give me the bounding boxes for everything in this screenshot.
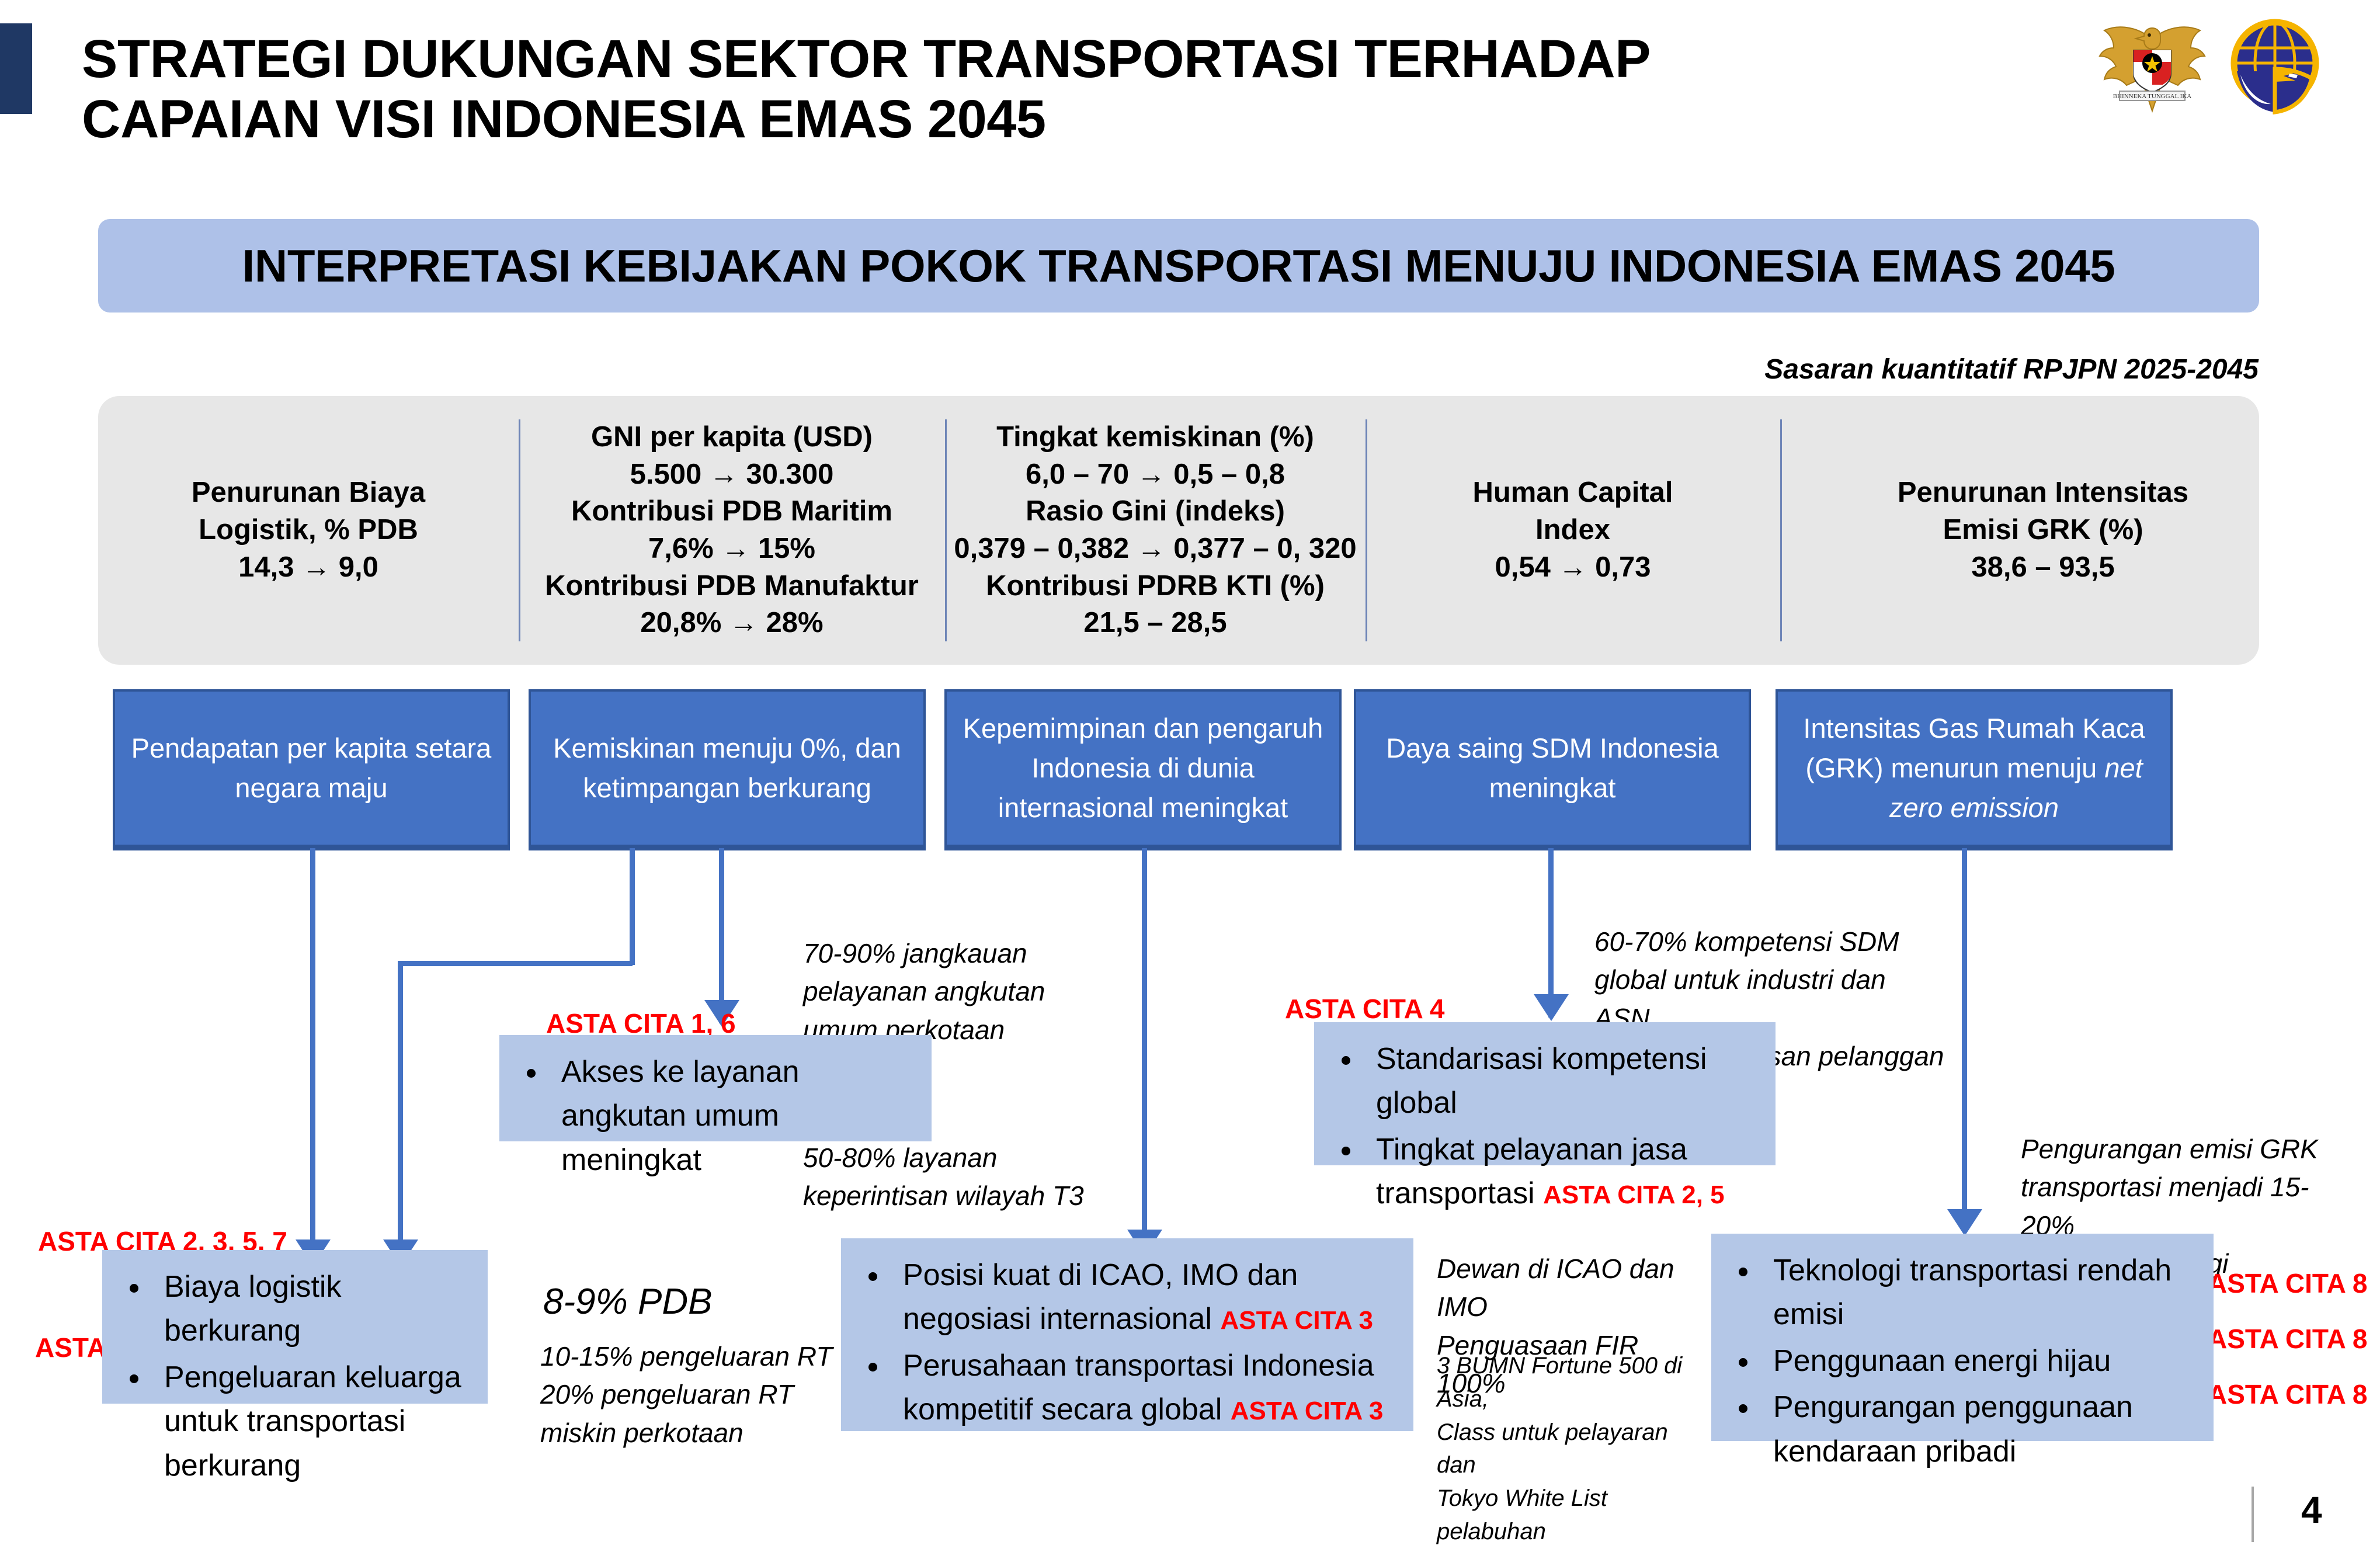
note-bumn-fortune: 3 BUMN Fortune 500 di Asia, Class untuk …: [1437, 1349, 1705, 1548]
stat-line: 38,6 – 93,5: [1971, 549, 2114, 586]
tag-asta-cita-8-2: ASTA CITA 8: [2208, 1323, 2367, 1355]
stat-line: Human Capital: [1472, 474, 1673, 512]
stat-line: Penurunan Biaya: [192, 474, 425, 512]
goal-box-label: Pendapatan per kapita setara negara maju: [128, 728, 495, 808]
stat-line: Penurunan Intensitas: [1898, 474, 2188, 512]
note-line: Class untuk pelayaran dan: [1437, 1416, 1705, 1482]
list-item: Teknologi transportasi rendah emisi: [1760, 1249, 2196, 1337]
stat-line: Tingkat kemiskinan (%): [996, 419, 1314, 456]
tag-asta-cita-1-6: ASTA CITA 1, 6: [546, 1008, 736, 1039]
page-title: STRATEGI DUKUNGAN SEKTOR TRANSPORTASI TE…: [82, 29, 1659, 150]
tag-asta-cita-8-1: ASTA CITA 8: [2208, 1268, 2367, 1299]
stat-line: Kontribusi PDB Maritim: [571, 493, 892, 530]
tag-asta-cita-3-b: ASTA CITA 3: [1231, 1397, 1384, 1425]
svg-text:BHINNEKA TUNGGAL IKA: BHINNEKA TUNGGAL IKA: [2113, 93, 2191, 100]
stat-line: Logistik, % PDB: [199, 512, 418, 549]
goal-box-label: Intensitas Gas Rumah Kaca (GRK) menurun …: [1791, 709, 2157, 828]
connector-line: [719, 848, 724, 1023]
page-number: 4: [2301, 1488, 2322, 1532]
outcome-list: Teknologi transportasi rendah emisi Peng…: [1724, 1249, 2196, 1474]
page-title-line-1: STRATEGI DUKUNGAN SEKTOR TRANSPORTASI TE…: [82, 29, 1659, 89]
stat-line: Kontribusi PDB Manufaktur: [545, 568, 919, 605]
note-line: pelayanan angkutan: [803, 973, 1078, 1011]
goal-box-intensitas-grk[interactable]: Intensitas Gas Rumah Kaca (GRK) menurun …: [1776, 689, 2173, 847]
stat-line: 21,5 – 28,5: [1083, 605, 1227, 642]
outcome-box-kompetensi-sdm[interactable]: Standarisasi kompetensi global Tingkat p…: [1314, 1022, 1776, 1165]
goal-box-label-plain: Intensitas Gas Rumah Kaca (GRK) menurun …: [1803, 713, 2145, 783]
footer-divider: [2252, 1487, 2254, 1542]
slide-root: STRATEGI DUKUNGAN SEKTOR TRANSPORTASI TE…: [0, 0, 2380, 1552]
list-item: Perusahaan transportasi Indonesia kompet…: [890, 1344, 1396, 1432]
note-line: Tokyo White List pelabuhan: [1437, 1482, 1705, 1548]
outcome-list: Standarisasi kompetensi global Tingkat p…: [1327, 1037, 1758, 1216]
stat-biaya-logistik: Penurunan Biaya Logistik, % PDB 14,3 → 9…: [98, 396, 519, 665]
stat-line: 0,379 – 0,382 → 0,377 – 0, 320: [954, 530, 1356, 568]
tag-asta-cita-2-5: ASTA CITA 2, 5: [1543, 1181, 1724, 1209]
goal-box-kemiskinan-nol[interactable]: Kemiskinan menuju 0%, dan ketimpangan be…: [529, 689, 926, 847]
stat-line: Kontribusi PDRB KTI (%): [986, 568, 1325, 605]
garuda-pancasila-icon: BHINNEKA TUNGGAL IKA: [2094, 18, 2211, 114]
stat-human-capital-index: Human Capital Index 0,54 → 0,73: [1366, 396, 1780, 665]
note-line: 20% pengeluaran RT: [540, 1376, 844, 1414]
goal-box-label: Daya saing SDM Indonesia meningkat: [1369, 728, 1736, 808]
note-line: keperintisan wilayah T3: [803, 1177, 1107, 1215]
stat-line: 7,6% → 15%: [648, 530, 815, 568]
kemenhub-globe-icon: [2219, 18, 2330, 117]
outcome-box-posisi-internasional[interactable]: Posisi kuat di ICAO, IMO dan negosiasi i…: [841, 1238, 1413, 1431]
note-pengeluaran-rt: 10-15% pengeluaran RT 20% pengeluaran RT…: [540, 1338, 844, 1452]
connector-line: [1142, 848, 1147, 1245]
note-line: 3 BUMN Fortune 500 di Asia,: [1437, 1349, 1705, 1416]
note-line: 60-70% kompetensi SDM: [1594, 923, 1945, 961]
section-banner-text: INTERPRETASI KEBIJAKAN POKOK TRANSPORTAS…: [242, 239, 2115, 293]
stat-gni-per-kapita: GNI per kapita (USD) 5.500 → 30.300 Kont…: [519, 396, 945, 665]
outcome-list: Posisi kuat di ICAO, IMO dan negosiasi i…: [854, 1254, 1396, 1432]
connector-line: [1962, 848, 1967, 1225]
list-item: Biaya logistik berkurang: [151, 1265, 470, 1353]
connector-line: [1548, 848, 1554, 1018]
list-item: Tingkat pelayanan jasa transportasi ASTA…: [1363, 1128, 1758, 1216]
outcome-list: Akses ke layanan angkutan umum meningkat: [512, 1050, 914, 1182]
title-accent-bar: [0, 23, 32, 114]
stat-line: 5.500 → 30.300: [630, 456, 834, 494]
connector-line: [398, 961, 403, 1242]
connector-line: [630, 848, 635, 965]
note-line: 10-15% pengeluaran RT: [540, 1338, 844, 1376]
tag-asta-cita-8-3: ASTA CITA 8: [2208, 1379, 2367, 1410]
connector-arrowhead-icon: [1534, 994, 1569, 1021]
list-item: Standarisasi kompetensi global: [1363, 1037, 1758, 1126]
stat-line: 20,8% → 28%: [640, 605, 823, 642]
note-jangkauan: 70-90% jangkauan pelayanan angkutan umum…: [803, 935, 1078, 1049]
note-line: miskin perkotaan: [540, 1414, 844, 1452]
section-banner: INTERPRETASI KEBIJAKAN POKOK TRANSPORTAS…: [98, 219, 2259, 313]
goal-box-label: Kepemimpinan dan pengaruh Indonesia di d…: [960, 709, 1326, 828]
outcome-box-akses-angkutan[interactable]: Akses ke layanan angkutan umum meningkat: [499, 1035, 932, 1141]
page-title-line-2: CAPAIAN VISI INDONESIA EMAS 2045: [82, 89, 1659, 150]
rpjpn-targets-panel: Penurunan Biaya Logistik, % PDB 14,3 → 9…: [98, 396, 2259, 665]
goal-box-pendapatan-per-kapita[interactable]: Pendapatan per kapita setara negara maju: [113, 689, 510, 847]
stat-line: 14,3 → 9,0: [238, 549, 378, 586]
tag-asta-cita-3-a: ASTA CITA 3: [1220, 1306, 1373, 1335]
connector-arrowhead-icon: [1947, 1209, 1982, 1236]
stat-line: Emisi GRK (%): [1943, 512, 2143, 549]
outcome-list: Biaya logistik berkurang Pengeluaran kel…: [115, 1265, 470, 1488]
stat-line: Rasio Gini (indeks): [1026, 493, 1285, 530]
connector-line: [398, 961, 633, 966]
list-item: Pengeluaran keluarga untuk transportasi …: [151, 1356, 470, 1488]
stat-line: 6,0 – 70 → 0,5 – 0,8: [1026, 456, 1285, 494]
sasaran-caption: Sasaran kuantitatif RPJPN 2025-2045: [1764, 353, 2259, 386]
note-line: Dewan di ICAO dan IMO: [1437, 1250, 1711, 1327]
goal-box-kepemimpinan-internasional[interactable]: Kepemimpinan dan pengaruh Indonesia di d…: [944, 689, 1342, 847]
list-item: Posisi kuat di ICAO, IMO dan negosiasi i…: [890, 1254, 1396, 1342]
list-item: Penggunaan energi hijau: [1760, 1339, 2196, 1383]
note-line: 8-9% PDB: [543, 1282, 712, 1322]
stat-line: Index: [1535, 512, 1610, 549]
list-item: Akses ke layanan angkutan umum meningkat: [548, 1050, 914, 1182]
list-item: Pengurangan penggunaan kendaraan pribadi: [1760, 1386, 2196, 1474]
note-line: 70-90% jangkauan: [803, 935, 1078, 973]
outcome-box-biaya-logistik[interactable]: Biaya logistik berkurang Pengeluaran kel…: [102, 1250, 488, 1404]
stat-line: GNI per kapita (USD): [591, 419, 873, 456]
goal-box-daya-saing-sdm[interactable]: Daya saing SDM Indonesia meningkat: [1354, 689, 1751, 847]
connector-line: [310, 848, 315, 1242]
stat-tingkat-kemiskinan: Tingkat kemiskinan (%) 6,0 – 70 → 0,5 – …: [945, 396, 1366, 665]
stat-line: 0,54 → 0,73: [1495, 549, 1651, 586]
tag-asta-cita-4: ASTA CITA 4: [1285, 993, 1444, 1025]
stat-intensitas-emisi-grk: Penurunan Intensitas Emisi GRK (%) 38,6 …: [1780, 396, 2306, 665]
note-line: Pengurangan emisi GRK: [2021, 1130, 2348, 1168]
note-pdb: 8-9% PDB: [543, 1276, 712, 1328]
goal-box-label: Kemiskinan menuju 0%, dan ketimpangan be…: [544, 728, 911, 808]
outcome-box-teknologi-rendah-emisi[interactable]: Teknologi transportasi rendah emisi Peng…: [1711, 1234, 2214, 1441]
